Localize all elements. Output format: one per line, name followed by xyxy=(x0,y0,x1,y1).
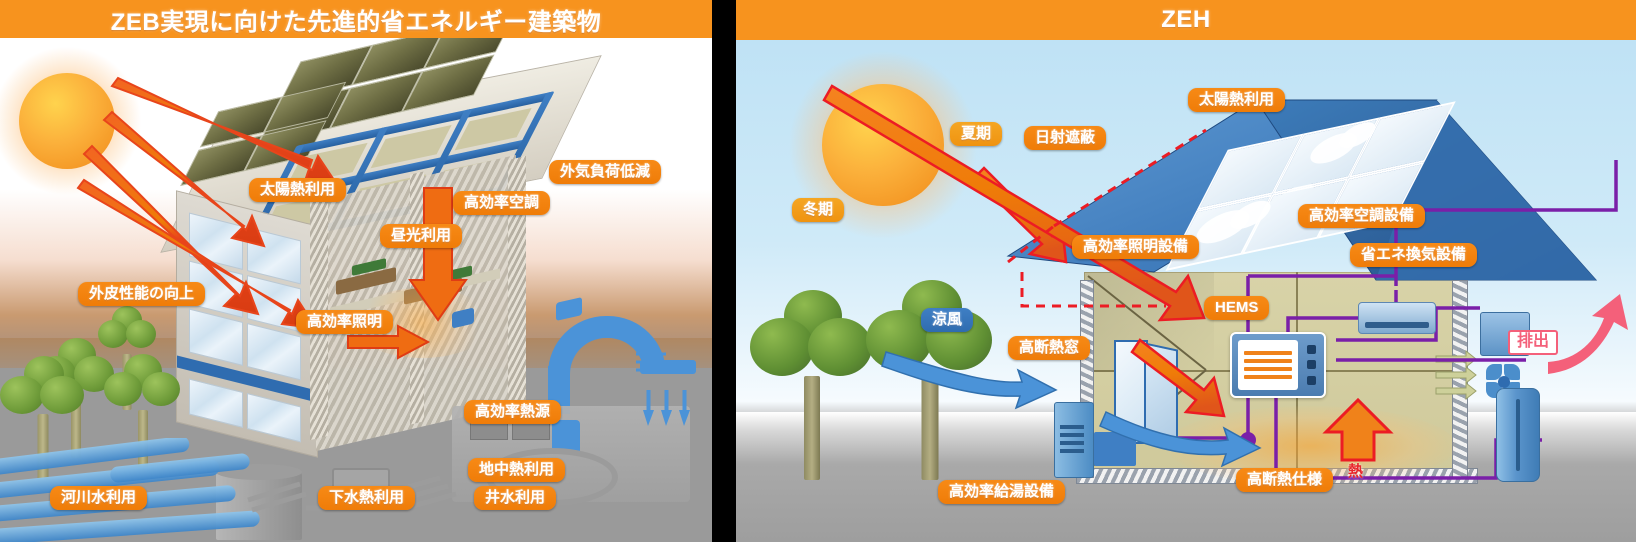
label-well-water-use: 井水利用 xyxy=(474,486,556,510)
label-envelope-performance: 外皮性能の向上 xyxy=(78,282,205,306)
label-winter: 冬期 xyxy=(792,198,844,222)
zeh-arrows xyxy=(736,40,1636,542)
label-ground-heat-use: 地中熱利用 xyxy=(468,458,565,482)
label-river-water-use: 河川水利用 xyxy=(50,486,147,510)
label-high-efficiency-lighting-equipment: 高効率照明設備 xyxy=(1072,235,1199,259)
label-high-efficiency-lighting: 高効率照明 xyxy=(296,310,393,334)
label-high-efficiency-water-heater: 高効率給湯設備 xyxy=(938,480,1065,504)
label-high-efficiency-hvac: 高効率空調 xyxy=(453,191,550,215)
label-high-insulation-window: 高断熱窓 xyxy=(1008,336,1090,360)
label-sewage-heat-use: 下水熱利用 xyxy=(318,486,415,510)
panel-zeb-illustration: 太陽熱利用 外気負荷低減 高効率空調 昼光利用 外皮性能の向上 高効率照明 高効… xyxy=(0,38,712,542)
label-energy-saving-ventilation: 省エネ換気設備 xyxy=(1350,243,1477,267)
panel-zeh-header: ZEH xyxy=(736,0,1636,40)
panel-zeh-illustration: 熱 xyxy=(736,40,1636,542)
panel-zeb-title: ZEB実現に向けた先進的省エネルギー建築物 xyxy=(111,2,602,37)
panel-zeh: ZEH xyxy=(736,0,1636,542)
label-summer: 夏期 xyxy=(950,122,1002,146)
label-solar-shading: 日射遮蔽 xyxy=(1024,126,1106,150)
label-high-efficiency-heat-source: 高効率熱源 xyxy=(464,400,561,424)
label-cool-breeze: 涼風 xyxy=(921,308,973,332)
label-high-efficiency-hvac-equipment: 高効率空調設備 xyxy=(1298,204,1425,228)
label-high-insulation-spec: 高断熱仕様 xyxy=(1236,468,1333,492)
label-hems: HEMS xyxy=(1204,296,1269,320)
label-solar-heat-use: 太陽熱利用 xyxy=(1188,88,1285,112)
panel-zeh-title: ZEH xyxy=(1161,6,1211,34)
figure-root: ZEB実現に向けた先進的省エネルギー建築物 xyxy=(0,0,1636,542)
label-exhaust: 排出 xyxy=(1508,330,1558,355)
panel-zeb-header: ZEB実現に向けた先進的省エネルギー建築物 xyxy=(0,0,712,38)
label-daylight-use: 昼光利用 xyxy=(380,224,462,248)
panel-zeb: ZEB実現に向けた先進的省エネルギー建築物 xyxy=(0,0,712,542)
label-solar-heat-use: 太陽熱利用 xyxy=(249,178,346,202)
label-outdoor-air-load: 外気負荷低減 xyxy=(549,160,661,184)
